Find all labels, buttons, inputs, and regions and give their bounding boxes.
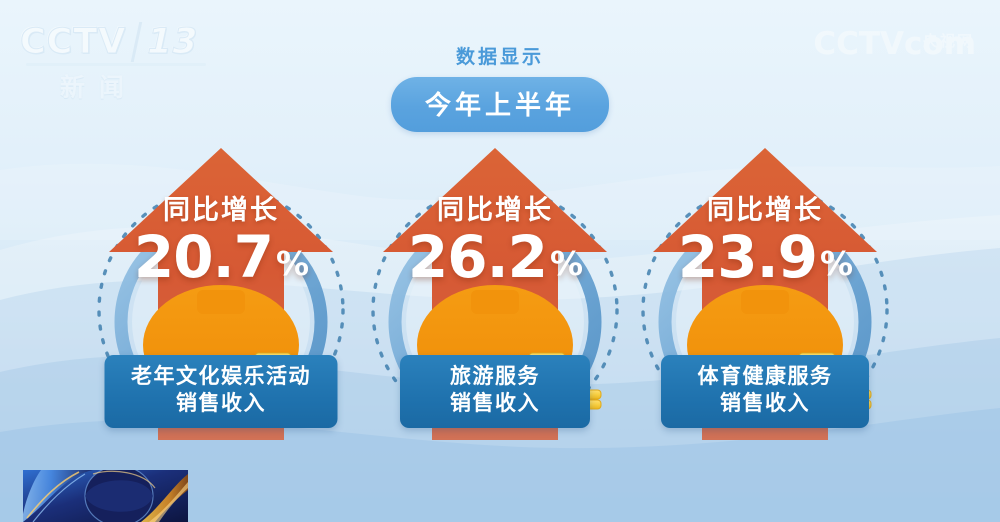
card-label-line1: 体育健康服务 xyxy=(677,364,853,391)
page-subtitle: 数据显示 xyxy=(456,42,544,69)
card-label-box: 旅游服务 销售收入 xyxy=(400,355,590,428)
card-label-line1: 老年文化娱乐活动 xyxy=(121,364,322,391)
card-label-line1: 旅游服务 xyxy=(416,364,574,391)
stat-card-group: 同比增长 20.7% 老年文化娱乐活动 销售收入 xyxy=(0,140,1000,440)
page-title: 今年上半年 xyxy=(391,77,609,132)
card-label-line2: 销售收入 xyxy=(121,391,322,418)
stat-card: 同比增长 23.9% 体育健康服务 销售收入 xyxy=(615,140,915,440)
card-label-line2: 销售收入 xyxy=(416,391,574,418)
card-label-line2: 销售收入 xyxy=(677,391,853,418)
stat-card: 同比增长 20.7% 老年文化娱乐活动 销售收入 xyxy=(71,140,371,440)
broadcast-lower-third-graphic xyxy=(23,470,188,522)
infographic-screen: CCTV 13 新闻 央视网 CCTVcom 数据显示 今年上半年 xyxy=(0,0,1000,522)
title-block: 数据显示 今年上半年 xyxy=(0,42,1000,132)
stat-card: 同比增长 26.2% 旅游服务 销售收入 xyxy=(345,140,645,440)
card-label-box: 老年文化娱乐活动 销售收入 xyxy=(105,355,338,428)
card-label-box: 体育健康服务 销售收入 xyxy=(661,355,869,428)
